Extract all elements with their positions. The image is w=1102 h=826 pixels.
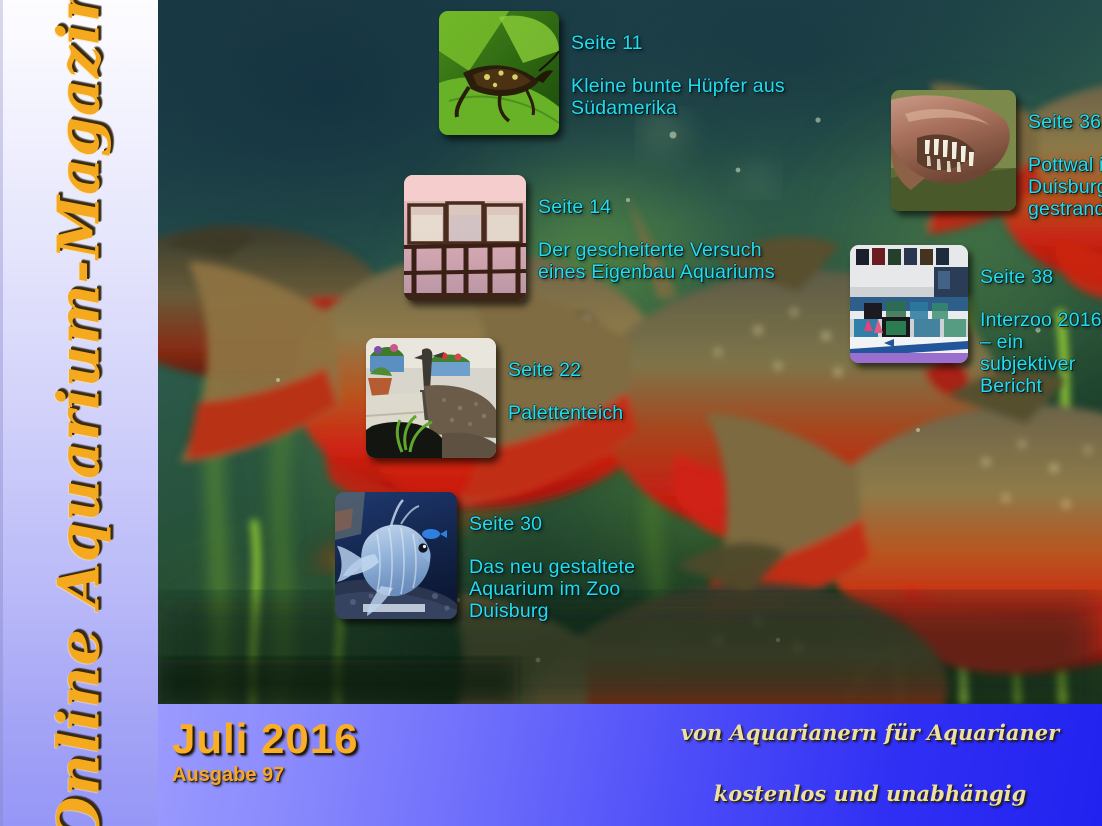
teaser-seite-14[interactable]: Seite 14 Der gescheiterte Versuch eines … <box>404 175 775 301</box>
teaser-30-title: Das neu gestaltete Aquarium im Zoo Duisb… <box>469 556 635 622</box>
teaser-38-text: Seite 38 Interzoo 2016 – ein subjektiver… <box>980 245 1102 398</box>
teaser-11-page: Seite 11 <box>571 33 785 55</box>
sperm-whale-jaw-thumbnail[interactable] <box>891 90 1016 211</box>
lookdown-fish-thumbnail[interactable] <box>335 492 457 619</box>
teaser-30-text: Seite 30 Das neu gestaltete Aquarium im … <box>469 492 635 623</box>
teaser-22-title: Palettenteich <box>508 402 623 424</box>
tagline-block: von Aquarianern für Aquarianer kostenlos… <box>660 722 1080 804</box>
pallet-pond-thumbnail[interactable] <box>366 338 496 458</box>
cover-footer: Juli 2016 Ausgabe 97 von Aquarianern für… <box>158 704 1102 826</box>
pallet-pond-image <box>366 338 496 458</box>
interzoo-booth-image <box>850 245 968 363</box>
cover-photo: Seite 11 Kleine bunte Hüpfer aus Südamer… <box>158 0 1102 704</box>
teaser-22-text: Seite 22 Palettenteich <box>508 338 623 425</box>
teaser-seite-36[interactable]: Seite 36 Pottwal in Duisburg gestrandet <box>891 90 1102 221</box>
diy-aquarium-thumbnail[interactable] <box>404 175 526 301</box>
teaser-14-text: Seite 14 Der gescheiterte Versuch eines … <box>538 175 775 284</box>
sperm-whale-jaw-image <box>891 90 1016 211</box>
issue-month: Juli 2016 <box>172 718 358 760</box>
teaser-14-title: Der gescheiterte Versuch eines Eigenbau … <box>538 239 775 283</box>
magazine-title: Online Aquarium-Magazin <box>46 0 113 826</box>
tagline-primary: von Aquarianern für Aquarianer <box>660 722 1080 743</box>
teaser-seite-38[interactable]: Seite 38 Interzoo 2016 – ein subjektiver… <box>850 245 1102 398</box>
teaser-seite-30[interactable]: Seite 30 Das neu gestaltete Aquarium im … <box>335 492 635 623</box>
tagline-secondary: kostenlos und unabhängig <box>660 783 1080 804</box>
lookdown-fish-image <box>335 492 457 619</box>
teaser-38-page: Seite 38 <box>980 267 1102 289</box>
interzoo-booth-thumbnail[interactable] <box>850 245 968 363</box>
spine-panel: Online Aquarium-Magazin <box>0 0 159 826</box>
grasshopper-thumbnail[interactable] <box>439 11 559 135</box>
teaser-11-title: Kleine bunte Hüpfer aus Südamerika <box>571 75 785 119</box>
teaser-22-page: Seite 22 <box>508 360 623 382</box>
teaser-11-text: Seite 11 Kleine bunte Hüpfer aus Südamer… <box>571 11 785 120</box>
teaser-36-text: Seite 36 Pottwal in Duisburg gestrandet <box>1028 90 1102 221</box>
teaser-36-page: Seite 36 <box>1028 112 1102 134</box>
teaser-14-page: Seite 14 <box>538 197 775 219</box>
teaser-36-title: Pottwal in Duisburg gestrandet <box>1028 154 1102 220</box>
teaser-30-page: Seite 30 <box>469 514 635 536</box>
magazine-cover: Online Aquarium-Magazin <box>0 0 1102 826</box>
teaser-seite-11[interactable]: Seite 11 Kleine bunte Hüpfer aus Südamer… <box>439 11 785 135</box>
issue-number: Ausgabe 97 <box>172 765 358 785</box>
grasshopper-image <box>439 11 559 135</box>
diy-aquarium-image <box>404 175 526 301</box>
issue-block: Juli 2016 Ausgabe 97 <box>172 718 358 785</box>
teaser-seite-22[interactable]: Seite 22 Palettenteich <box>366 338 623 458</box>
teaser-38-title: Interzoo 2016 – ein subjektiver Bericht <box>980 309 1102 396</box>
